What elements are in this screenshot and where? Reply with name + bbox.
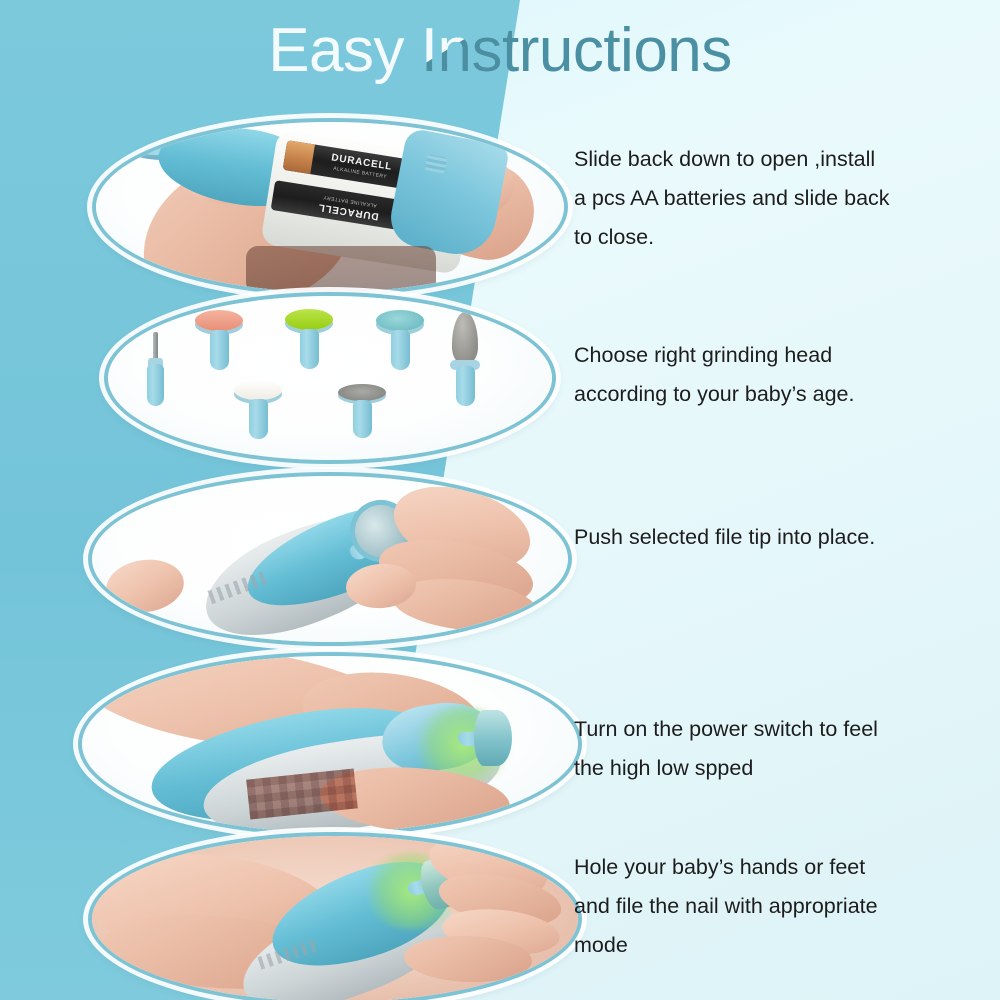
step-5-caption: Hole your baby’s hands or feet and file … (574, 848, 954, 965)
step-5-image-panel (88, 832, 574, 998)
step-5-caption-line-1: Hole your baby’s hands or feet (574, 848, 954, 887)
table-surface-shadow (246, 246, 436, 292)
step-1-oval-frame: DURACELL ALKALINE BATTERY DURACELL ALKAL… (92, 118, 568, 296)
step-2-caption: Choose right grinding head according to … (574, 336, 954, 414)
step-2-image-panel (104, 292, 548, 456)
easy-instructions-infographic: Easy Instructions Easy Instructions (0, 0, 1000, 1000)
page-title: Easy Instructions Easy Instructions (0, 8, 1000, 94)
step-4-caption-line-1: Turn on the power switch to feel (574, 710, 954, 749)
step-4-caption: Turn on the power switch to feel the hig… (574, 710, 954, 788)
step-5-photo (92, 836, 578, 1000)
step-1-caption-line-2: a pcs AA batteries and slide back (574, 179, 954, 218)
grinding-head-disc (474, 710, 512, 766)
step-2-caption-line-2: according to your baby’s age. (574, 375, 954, 414)
step-5-caption-line-2: and file the nail with appropriate (574, 887, 954, 926)
step-3-image-panel (88, 472, 564, 638)
step-4-caption-line-2: the high low spped (574, 749, 954, 788)
step-4-photo (82, 656, 578, 832)
step-1-caption-line-3: to close. (574, 218, 954, 257)
step-3-caption: Push selected file tip into place. (574, 518, 954, 557)
step-2-caption-line-1: Choose right grinding head (574, 336, 954, 375)
step-1-caption: Slide back down to open ,install a pcs A… (574, 140, 954, 257)
hand-left-thumb (103, 555, 187, 617)
step-1-image-panel: DURACELL ALKALINE BATTERY DURACELL ALKAL… (92, 118, 560, 288)
step-5-oval-frame (88, 832, 582, 1000)
step-5-caption-line-3: mode (574, 926, 954, 965)
step-4-image-panel (78, 652, 574, 828)
step-1-photo: DURACELL ALKALINE BATTERY DURACELL ALKAL… (96, 122, 564, 292)
step-3-oval-frame (88, 472, 572, 646)
step-2-oval-frame (104, 292, 556, 464)
step-3-photo (92, 476, 568, 642)
step-1-caption-line-1: Slide back down to open ,install (574, 140, 954, 179)
step-3-caption-line-1: Push selected file tip into place. (574, 518, 954, 557)
step-2-photo (108, 296, 552, 460)
step-4-oval-frame (78, 652, 582, 836)
